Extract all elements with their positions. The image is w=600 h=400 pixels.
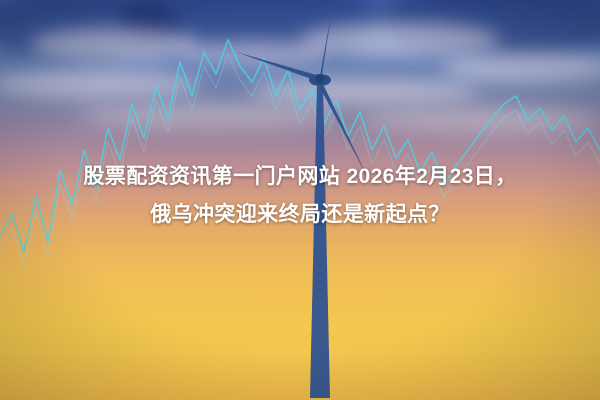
caption-block: 股票配资资讯第一门户网站 2026年2月23日， 俄乌冲突迎来终局还是新起点？: [0, 158, 600, 234]
screenshot-root: 股票配资资讯第一门户网站 2026年2月23日， 俄乌冲突迎来终局还是新起点？: [0, 0, 600, 400]
caption-line-2: 俄乌冲突迎来终局还是新起点？: [0, 196, 600, 234]
caption-line-1: 股票配资资讯第一门户网站 2026年2月23日，: [0, 158, 600, 196]
